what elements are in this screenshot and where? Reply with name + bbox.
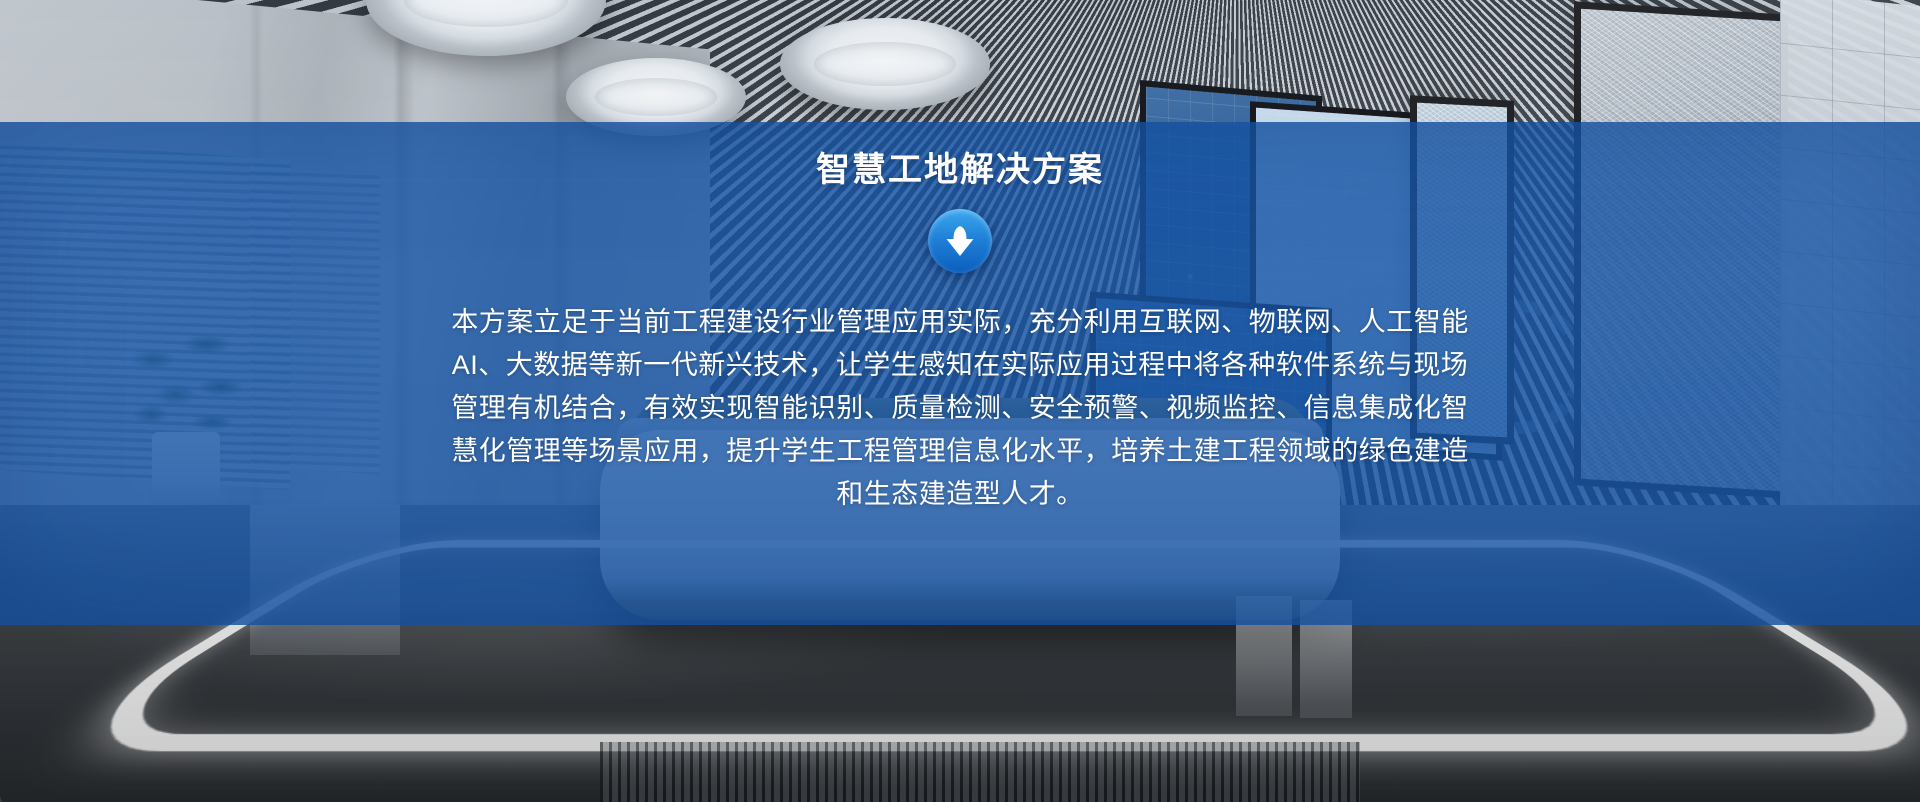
page-title: 智慧工地解决方案 xyxy=(816,150,1104,191)
ceiling-lamp xyxy=(780,18,990,110)
hero-content: 智慧工地解决方案 本方案立足于当前工程建设行业管理应用实际，充分利用互联网、物联… xyxy=(0,122,1920,625)
hero-description: 本方案立足于当前工程建设行业管理应用实际，充分利用互联网、物联网、人工智能 AI… xyxy=(445,301,1475,516)
download-arrow-icon[interactable] xyxy=(928,209,992,273)
hero-banner: 智慧工地解决方案 本方案立足于当前工程建设行业管理应用实际，充分利用互联网、物联… xyxy=(0,0,1920,802)
hero-description-line: 本方案立足于当前工程建设行业管理应用实际，充分利用互联网、物联网、人工智能 xyxy=(445,301,1475,344)
hero-description-line: AI、大数据等新一代新兴技术，让学生感知在实际应用过程中将各种软件系统与现场 xyxy=(445,344,1475,387)
blue-overlay-band: 智慧工地解决方案 本方案立足于当前工程建设行业管理应用实际，充分利用互联网、物联… xyxy=(0,122,1920,625)
hero-description-line: 和生态建造型人才。 xyxy=(445,473,1475,516)
hero-description-line: 管理有机结合，有效实现智能识别、质量检测、安全预警、视频监控、信息集成化智 xyxy=(445,387,1475,430)
floor-grate xyxy=(600,742,1360,802)
hero-description-line: 慧化管理等场景应用，提升学生工程管理信息化水平，培养土建工程领域的绿色建造 xyxy=(445,430,1475,473)
